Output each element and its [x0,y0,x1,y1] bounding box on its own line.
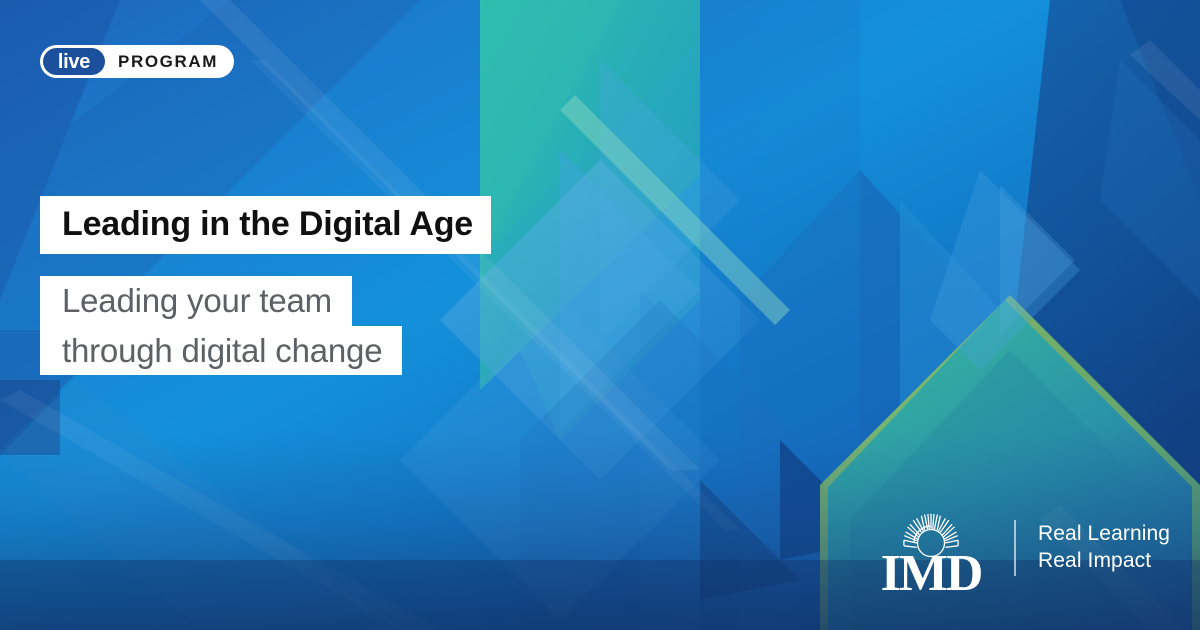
imd-tagline: Real Learning Real Impact [1038,521,1170,575]
program-label: PROGRAM [118,52,218,72]
page-title: Leading in the Digital Age [62,205,473,243]
imd-crest-icon: IMD [872,502,990,594]
live-pill-label: live [43,48,105,75]
logo-divider [1014,520,1016,576]
subtitle-line-1: Leading your team [62,281,332,321]
tagline-line-1: Real Learning [1038,521,1170,548]
imd-sunburst-icon: IMD [872,502,990,594]
subtitle-line-2: through digital change [62,331,382,371]
subtitle-box-line-2: through digital change [40,326,402,376]
tagline-line-2: Real Impact [1038,548,1170,575]
program-subtitle: Leading your team through digital change [40,276,402,375]
live-program-badge[interactable]: live PROGRAM [40,45,234,78]
promo-banner: live PROGRAM Leading in the Digital Age … [0,0,1200,630]
imd-logo: IMD Real Learning Real Impact [872,500,1170,595]
program-title-box: Leading in the Digital Age [40,196,491,254]
subtitle-box-line-1: Leading your team [40,276,352,326]
svg-text:IMD: IMD [881,545,982,594]
